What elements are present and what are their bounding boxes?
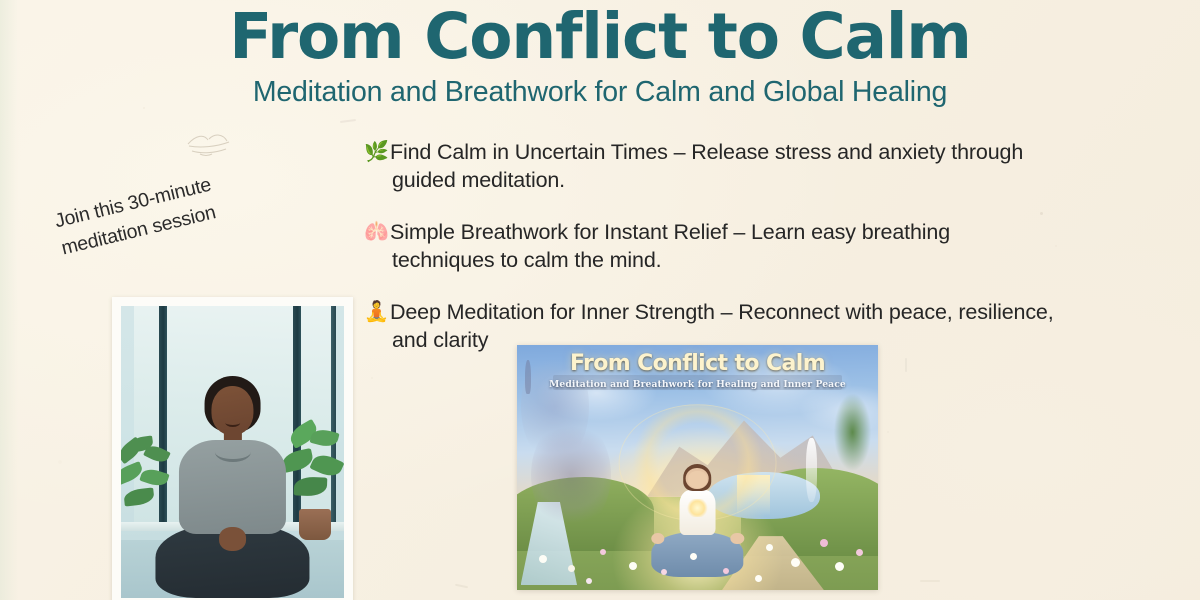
- benefit-item-1: 🌿 Find Calm in Uncertain Times – Release…: [364, 138, 1054, 194]
- benefit-text-2: Simple Breathwork for Instant Relief – L…: [392, 218, 1054, 274]
- meditating-person-icon: 🧘: [364, 298, 390, 326]
- page-title: From Conflict to Calm: [0, 4, 1200, 70]
- poster-text-block: From Conflict to Calm Meditation and Bre…: [517, 351, 878, 390]
- herb-icon: 🌿: [364, 138, 390, 166]
- event-poster-image: From Conflict to Calm Meditation and Bre…: [517, 345, 878, 590]
- photo-plant-pot: [299, 509, 330, 539]
- benefit-item-2: 🫁 Simple Breathwork for Instant Relief –…: [364, 218, 1054, 274]
- poster-subtitle: Meditation and Breathwork for Healing an…: [517, 379, 878, 390]
- benefits-list: 🌿 Find Calm in Uncertain Times – Release…: [364, 138, 1054, 378]
- lungs-icon: 🫁: [364, 218, 390, 246]
- session-note: Join this 30-minute meditation session: [52, 161, 260, 262]
- poster-figure-heart-light: [687, 499, 708, 517]
- decorative-mark-c: [455, 584, 468, 589]
- event-banner: From Conflict to Calm Meditation and Bre…: [0, 0, 1200, 600]
- bird-sketch-icon: [182, 126, 242, 165]
- photo-person-collar: [215, 442, 251, 462]
- page-subtitle: Meditation and Breathwork for Calm and G…: [0, 76, 1200, 109]
- decorative-mark-a: [340, 119, 356, 123]
- photo-person-hands: [219, 527, 247, 551]
- banner-header: From Conflict to Calm Meditation and Bre…: [0, 4, 1200, 109]
- benefit-text-1: Find Calm in Uncertain Times – Release s…: [392, 138, 1054, 194]
- poster-title: From Conflict to Calm: [517, 351, 878, 376]
- meditation-photo-frame: [112, 297, 353, 600]
- photo-person-head: [211, 386, 254, 435]
- poster-figure-face: [688, 471, 706, 488]
- decorative-mark-e: [920, 580, 940, 582]
- photo-person-smile: [225, 418, 240, 427]
- photo-person: [163, 376, 301, 598]
- poster-flowers: [517, 517, 878, 591]
- meditation-photo: [121, 306, 344, 598]
